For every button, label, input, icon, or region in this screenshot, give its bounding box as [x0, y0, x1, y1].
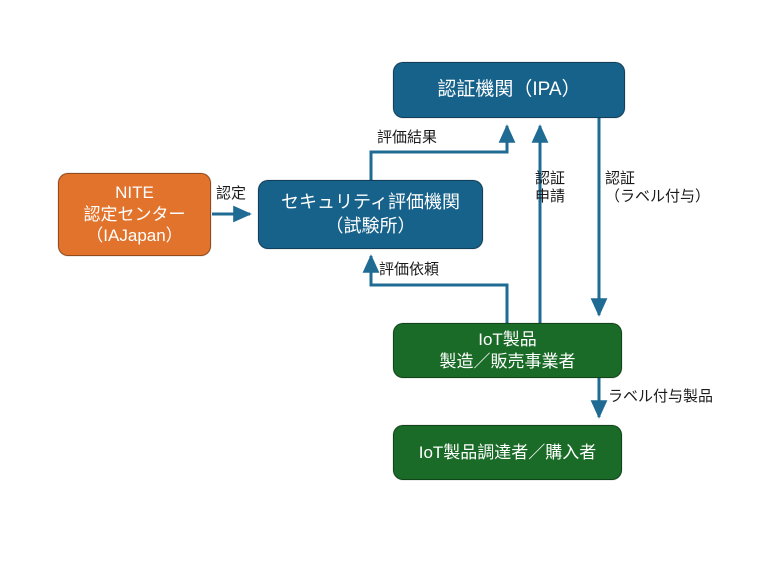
diagram-canvas: 認証機関（IPA） NITE 認定センター （IAJapan） セキュリティ評価…: [0, 0, 778, 578]
node-iot-product-purchaser-label: IoT製品調達者／購入者: [413, 442, 603, 464]
node-iot-product-manufacturer[interactable]: IoT製品 製造／販売事業者: [393, 323, 622, 378]
node-iot-product-manufacturer-label: IoT製品 製造／販売事業者: [434, 329, 582, 373]
node-accreditation-center-label: NITE 認定センター （IAJapan）: [78, 182, 192, 247]
edge-label-accreditation: 認定: [216, 185, 246, 203]
node-security-evaluation-body[interactable]: セキュリティ評価機関 （試験所）: [258, 180, 483, 249]
flow-arrows: [0, 0, 778, 578]
edge-label-evaluation-result: 評価結果: [377, 129, 437, 147]
edge-label-certification-label-grant: 認証 （ラベル付与）: [605, 170, 710, 205]
edge-label-certification-application: 認証 申請: [535, 170, 571, 205]
node-iot-product-purchaser[interactable]: IoT製品調達者／購入者: [393, 425, 622, 480]
node-certification-body[interactable]: 認証機関（IPA）: [393, 62, 625, 118]
edge-label-labeled-product: ラベル付与製品: [608, 388, 713, 406]
edge-label-evaluation-request: 評価依頼: [379, 261, 439, 279]
node-certification-body-label: 認証機関（IPA）: [431, 78, 586, 102]
node-security-evaluation-body-label: セキュリティ評価機関 （試験所）: [275, 191, 466, 237]
node-accreditation-center[interactable]: NITE 認定センター （IAJapan）: [58, 173, 211, 256]
